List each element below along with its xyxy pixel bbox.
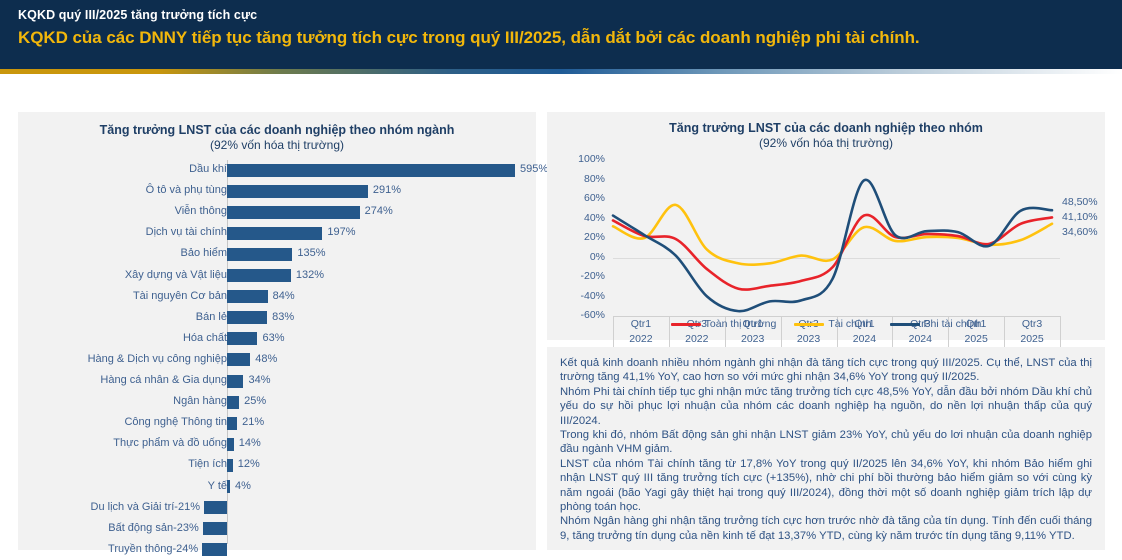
line-series-svg xyxy=(547,112,1105,340)
bar-rect xyxy=(202,543,227,556)
bar-rect xyxy=(227,311,267,324)
bar-category-label: Bảo hiểm xyxy=(181,247,227,259)
bar-row: Thực phẩm và đồ uống14% xyxy=(18,434,536,455)
bar-value-label: 12% xyxy=(238,458,260,470)
bar-row: Tiện ích12% xyxy=(18,455,536,476)
bar-rect xyxy=(227,375,243,388)
bar-rect xyxy=(204,501,227,514)
bar-rect xyxy=(227,227,322,240)
legend-item[interactable]: Tài chính xyxy=(794,318,871,330)
bar-row: Ô tô và phụ tùng291% xyxy=(18,181,536,202)
series-end-label: 41,10% xyxy=(1062,211,1098,223)
bar-rect xyxy=(203,522,227,535)
legend-item[interactable]: Toàn thị trường xyxy=(671,318,777,330)
header-kicker: KQKD quý III/2025 tăng trưởng tích cực xyxy=(18,8,257,22)
commentary-paragraph: LNST của nhóm Tài chính tăng từ 17,8% Yo… xyxy=(560,457,1092,515)
bar-rect xyxy=(227,248,292,261)
bar-row: Công nghệ Thông tin21% xyxy=(18,413,536,434)
bar-value-label: 291% xyxy=(373,184,401,196)
series-end-label: 34,60% xyxy=(1062,226,1098,238)
bar-category-value-label: Du lịch và Giải trí-21% xyxy=(91,501,200,513)
bar-rect xyxy=(227,438,234,451)
bar-row: Dầu khí595% xyxy=(18,160,536,181)
bar-row: Tài nguyên Cơ bản84% xyxy=(18,287,536,308)
line-series-path xyxy=(613,205,1052,265)
bar-rect xyxy=(227,206,360,219)
slide-root: KQKD quý III/2025 tăng trưởng tích cực K… xyxy=(0,0,1122,560)
bar-value-label: 135% xyxy=(297,247,325,259)
bar-value-label: 274% xyxy=(365,205,393,217)
bar-category-label: Thực phẩm và đồ uống xyxy=(113,437,227,449)
bar-rect xyxy=(227,480,230,493)
bar-plot-area: Dầu khí595%Ô tô và phụ tùng291%Viễn thôn… xyxy=(18,160,536,544)
bar-value-label: 48% xyxy=(255,353,277,365)
bar-rect xyxy=(227,353,250,366)
header-headline: KQKD của các DNNY tiếp tục tăng tưởng tí… xyxy=(18,28,920,48)
bar-value-label: 34% xyxy=(248,374,270,386)
commentary-paragraph: Kết quả kinh doanh nhiều nhóm ngành ghi … xyxy=(560,356,1092,385)
bar-category-label: Ô tô và phụ tùng xyxy=(146,184,227,196)
bar-chart-title: Tăng trưởng LNST của các doanh nghiệp th… xyxy=(18,123,536,138)
line-plot-area: 100%80%60%40%20%0%-20%-40%-60%Qtr12022Qt… xyxy=(547,112,1105,340)
bar-row: Hóa chất63% xyxy=(18,329,536,350)
bar-row: Hàng & Dịch vụ công nghiệp48% xyxy=(18,350,536,371)
bar-category-label: Xây dựng và Vật liệu xyxy=(125,269,227,281)
line-chart-legend: Toàn thị trườngTài chínhPhi tài chính xyxy=(547,318,1105,330)
bar-value-label: 595% xyxy=(520,163,548,175)
line-chart-panel: Tăng trưởng LNST của các doanh nghiệp th… xyxy=(547,112,1105,340)
legend-label: Phi tài chính xyxy=(924,318,982,330)
commentary-paragraph: Trong khi đó, nhóm Bất động sản ghi nhận… xyxy=(560,428,1092,457)
bar-value-label: 21% xyxy=(242,416,264,428)
legend-color-swatch xyxy=(890,323,920,326)
bar-rect xyxy=(227,417,237,430)
bar-rect xyxy=(227,396,239,409)
commentary-paragraph: Nhóm Phi tài chính tiếp tục ghi nhận mức… xyxy=(560,385,1092,428)
bar-category-label: Hóa chất xyxy=(183,332,227,344)
commentary-text: Kết quả kinh doanh nhiều nhóm ngành ghi … xyxy=(560,356,1092,543)
bar-row: Bán lẻ83% xyxy=(18,308,536,329)
bar-row: Y tế4% xyxy=(18,477,536,498)
bar-value-label: 63% xyxy=(262,332,284,344)
header-accent-rule xyxy=(0,69,1122,74)
bar-rect xyxy=(227,269,291,282)
bar-row: Ngân hàng25% xyxy=(18,392,536,413)
bar-rect xyxy=(227,290,268,303)
slide-header: KQKD quý III/2025 tăng trưởng tích cực K… xyxy=(0,0,1122,69)
bar-category-label: Viễn thông xyxy=(175,205,227,217)
bar-category-label: Hàng cá nhân & Gia dụng xyxy=(100,374,227,386)
legend-item[interactable]: Phi tài chính xyxy=(890,318,982,330)
bar-category-label: Dịch vụ tài chính xyxy=(146,226,227,238)
bar-category-label: Công nghệ Thông tin xyxy=(124,416,227,428)
legend-label: Tài chính xyxy=(828,318,871,330)
bar-rect xyxy=(227,459,233,472)
bar-row: Bảo hiểm135% xyxy=(18,244,536,265)
bar-row: Xây dựng và Vật liệu132% xyxy=(18,266,536,287)
bar-value-label: 84% xyxy=(273,290,295,302)
bar-value-label: 197% xyxy=(327,226,355,238)
bar-row: Bất động sản-23% xyxy=(18,519,536,540)
bar-category-label: Ngân hàng xyxy=(173,395,227,407)
bar-rect xyxy=(227,332,257,345)
bar-category-value-label: Truyền thông-24% xyxy=(108,543,198,555)
bar-row: Hàng cá nhân & Gia dụng34% xyxy=(18,371,536,392)
bar-category-label: Tiện ích xyxy=(188,458,227,470)
bar-category-label: Hàng & Dịch vụ công nghiệp xyxy=(88,353,227,365)
bar-category-label: Tài nguyên Cơ bản xyxy=(133,290,227,302)
legend-label: Toàn thị trường xyxy=(705,318,777,330)
bar-category-label: Bán lẻ xyxy=(196,311,227,323)
legend-color-swatch xyxy=(794,323,824,326)
line-series-path xyxy=(613,180,1052,311)
bar-value-label: 132% xyxy=(296,269,324,281)
bar-chart-panel: Tăng trưởng LNST của các doanh nghiệp th… xyxy=(18,112,536,550)
bar-chart-subtitle: (92% vốn hóa thị trường) xyxy=(18,138,536,153)
commentary-paragraph: Nhóm Ngân hàng ghi nhận tăng trưởng tích… xyxy=(560,514,1092,543)
bar-category-label: Y tế xyxy=(208,480,227,492)
commentary-panel: Kết quả kinh doanh nhiều nhóm ngành ghi … xyxy=(547,347,1105,550)
bar-value-label: 83% xyxy=(272,311,294,323)
bar-value-label: 25% xyxy=(244,395,266,407)
bar-row: Truyền thông-24% xyxy=(18,540,536,560)
bar-row: Viễn thông274% xyxy=(18,202,536,223)
bar-category-label: Dầu khí xyxy=(189,163,227,175)
bar-rect xyxy=(227,185,368,198)
bar-value-label: 4% xyxy=(235,480,251,492)
bar-value-label: 14% xyxy=(239,437,261,449)
bar-row: Du lịch và Giải trí-21% xyxy=(18,498,536,519)
legend-color-swatch xyxy=(671,323,701,326)
bar-rect xyxy=(227,164,515,177)
series-end-label: 48,50% xyxy=(1062,196,1098,208)
bar-row: Dịch vụ tài chính197% xyxy=(18,223,536,244)
bar-category-value-label: Bất động sản-23% xyxy=(108,522,199,534)
